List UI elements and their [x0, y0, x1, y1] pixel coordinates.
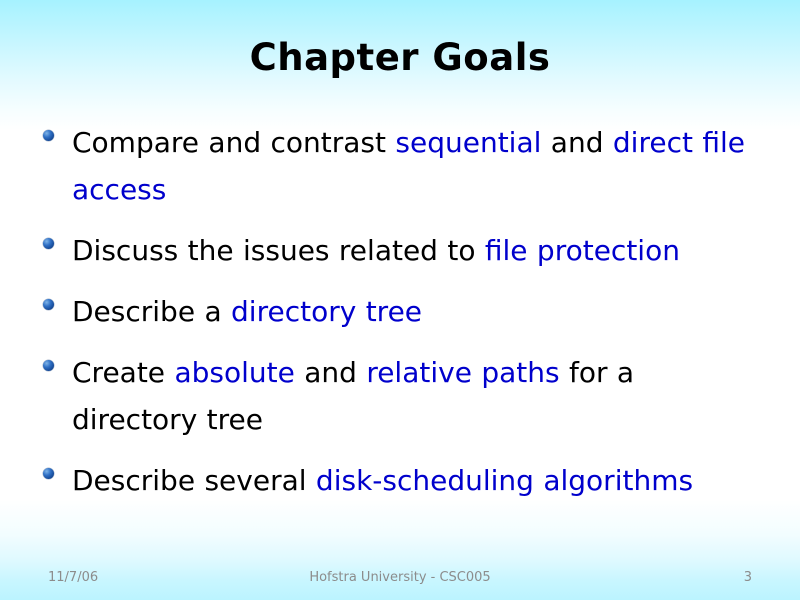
blue-sphere-bullet-icon	[43, 238, 54, 249]
highlighted-term: absolute	[174, 356, 294, 389]
list-item: Compare and contrast sequential and dire…	[40, 119, 760, 213]
highlighted-term: file protection	[485, 234, 680, 267]
footer-page-number: 3	[744, 570, 752, 585]
list-item-text: Compare and contrast sequential and dire…	[72, 126, 745, 206]
presentation-slide: Chapter Goals Compare and contrast seque…	[0, 0, 800, 600]
highlighted-term: directory tree	[231, 295, 422, 328]
text-segment: Discuss the issues related to	[72, 234, 485, 267]
blue-sphere-bullet-icon	[43, 360, 54, 371]
text-segment: Describe a	[72, 295, 231, 328]
highlighted-term: sequential	[395, 126, 541, 159]
blue-sphere-bullet-icon	[43, 299, 54, 310]
list-item-text: Discuss the issues related to file prote…	[72, 234, 680, 267]
list-item-text: Describe a directory tree	[72, 295, 422, 328]
text-segment: Create	[72, 356, 174, 389]
list-item: Create absolute and relative paths for a…	[40, 349, 760, 443]
blue-sphere-bullet-icon	[43, 130, 54, 141]
highlighted-term: disk-scheduling algorithms	[316, 464, 693, 497]
list-item: Discuss the issues related to file prote…	[40, 227, 760, 274]
slide-body-bullet-list: Compare and contrast sequential and dire…	[40, 119, 760, 518]
slide-footer: 11/7/06 Hofstra University - CSC005 3	[0, 570, 800, 590]
highlighted-term: relative paths	[366, 356, 559, 389]
text-segment: and	[541, 126, 612, 159]
blue-sphere-bullet-icon	[43, 468, 54, 479]
list-item: Describe several disk-scheduling algorit…	[40, 457, 760, 504]
slide-title-container: Chapter Goals	[0, 36, 800, 80]
text-segment: Compare and contrast	[72, 126, 395, 159]
list-item-text: Create absolute and relative paths for a…	[72, 356, 634, 436]
text-segment: Describe several	[72, 464, 316, 497]
list-item-text: Describe several disk-scheduling algorit…	[72, 464, 693, 497]
text-segment: and	[295, 356, 366, 389]
page-title: Chapter Goals	[250, 36, 551, 80]
list-item: Describe a directory tree	[40, 288, 760, 335]
footer-course-label: Hofstra University - CSC005	[0, 570, 800, 585]
